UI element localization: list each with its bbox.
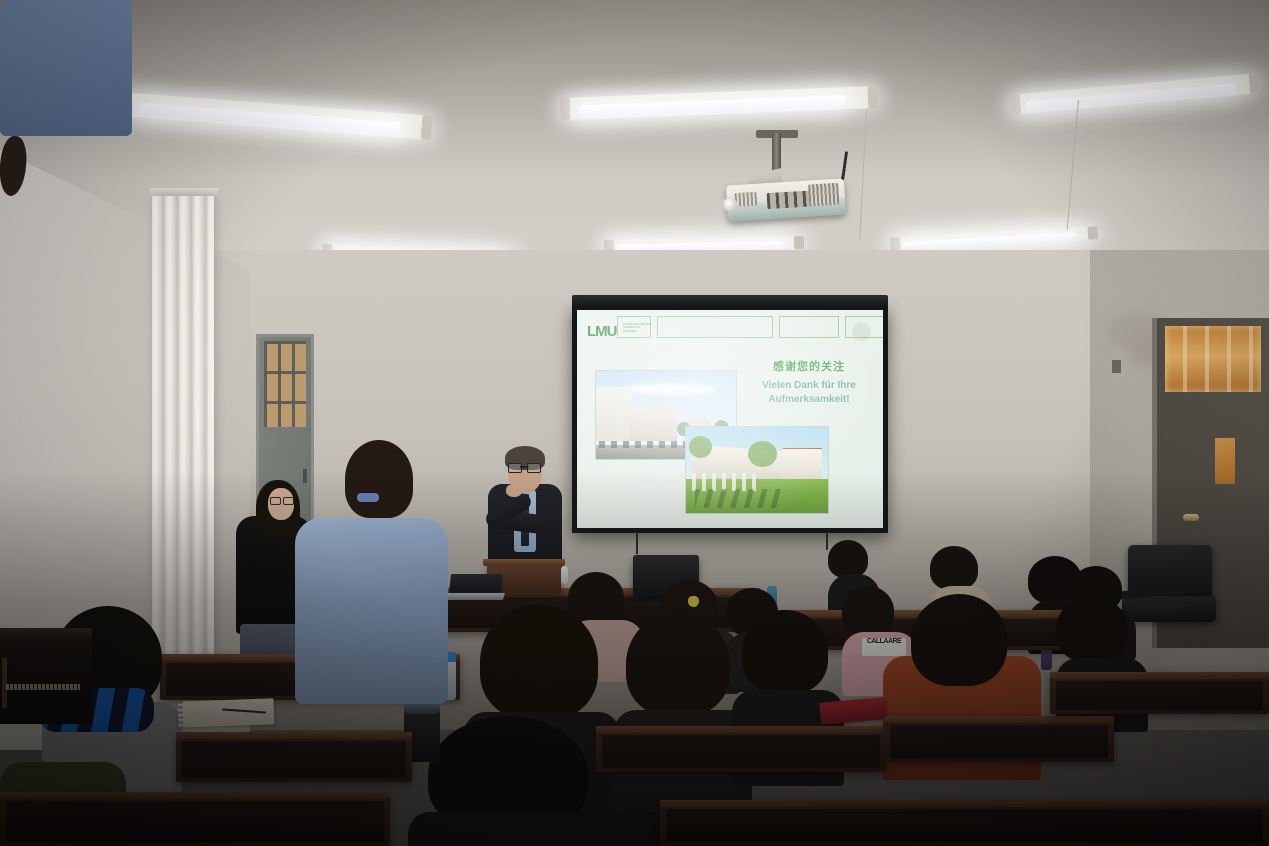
student-ponytail [0,135,29,197]
door-transom-window [264,341,306,427]
bench-desk-row [660,800,1269,846]
bench-desk-row [176,732,412,782]
university-seal-icon [852,322,871,341]
projector-exhaust-vent [808,183,839,207]
screen-cable [636,532,638,554]
office-chair-seat[interactable] [1122,596,1216,622]
student-jeans [0,0,132,136]
fluted-column [152,196,214,666]
speaker-eyeglasses-icon [508,463,541,471]
slide-photo-campus-lawn [685,426,829,514]
bench-desk-row [884,716,1114,762]
projection-screen: LMU LUDWIG-MAXIMILIANS-UNIVERSITÄT MÜNCH… [572,305,888,533]
lmu-logo: LMU [587,323,617,340]
transom-bars [264,341,306,427]
door-vision-panel [1215,438,1235,484]
water-bottle [561,566,568,584]
door-transom-window [1165,326,1261,392]
student-hair [345,440,413,518]
ceiling-projector [726,178,846,221]
student-sweatshirt [295,518,448,704]
projector-ports [767,190,812,209]
hair-tie-accessory [688,596,699,607]
host-eyeglasses-icon [270,497,294,503]
lmu-logo-subtitle: LUDWIG-MAXIMILIANS-UNIVERSITÄT MÜNCHEN [623,323,653,333]
projector-lens [723,197,738,212]
graphic-shirt-print: CALLAARE [862,638,906,656]
notebook-spiral [178,702,184,728]
thanks-german-line1: Vielen Dank für Ihre [737,379,881,393]
upright-piano [0,628,92,724]
student-hair-tie [357,493,379,502]
projector-vent [734,192,757,207]
door-hinge [303,469,307,483]
thanks-chinese: 感谢您的关注 [737,358,881,374]
slide-header: LMU LUDWIG-MAXIMILIANS-UNIVERSITÄT MÜNCH… [581,315,879,341]
projected-slide: LMU LUDWIG-MAXIMILIANS-UNIVERSITÄT MÜNCH… [577,310,883,528]
bench-desk-row [0,792,390,846]
door-handle[interactable] [1183,514,1199,521]
thanks-german-line2: Aufmerksamkeit! [737,393,881,407]
slide-thanks-text: 感谢您的关注 Vielen Dank für Ihre Aufmerksamke… [737,358,881,407]
bench-desk-row [1050,672,1269,714]
laptop [446,574,502,600]
light-switch-plate[interactable] [1112,360,1121,373]
lecture-hall-photo: LMU LUDWIG-MAXIMILIANS-UNIVERSITÄT MÜNCH… [0,0,1269,846]
bench-desk-row [596,726,886,772]
person-standing-student [0,0,132,196]
